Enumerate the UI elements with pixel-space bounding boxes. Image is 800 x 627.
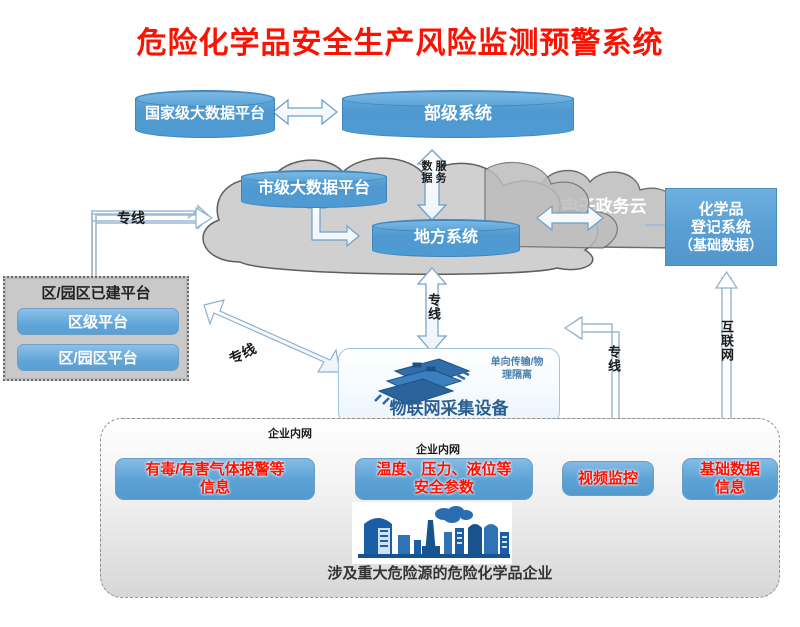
toxic-gas-line-2: 信息 — [200, 479, 230, 497]
registry-line-3: （基础数据） — [679, 237, 763, 254]
registry-line-1: 化学品 — [698, 201, 743, 219]
intranet-label-left: 企业内网 — [268, 425, 312, 441]
registry-line-2: 登记系统 — [691, 219, 751, 237]
safety-param-line-2: 安全参数 — [414, 479, 474, 497]
base-data-info-box[interactable]: 基础数据 信息 — [682, 458, 778, 500]
iot-isolation-note: 单向传输/物 理隔离 — [481, 357, 553, 382]
city-big-data-platform-label: 市级大数据平台 — [242, 180, 386, 198]
district-existing-platforms-panel: 区/园区已建平台 区级平台 区/园区平台 — [3, 276, 189, 381]
diagram-canvas: 危险化学品安全生产风险监测预警系统 市电子政务云 — [0, 0, 800, 627]
link-label-dedicated-center: 专线 — [427, 293, 440, 321]
toxic-gas-line-1: 有毒/有害气体报警等 — [145, 461, 284, 479]
iot-device-label: 物联网采集设备 — [339, 394, 559, 419]
base-data-line-2: 信息 — [715, 479, 745, 497]
video-monitoring-label: 视频监控 — [578, 470, 638, 488]
link-label-dedicated-diagonal: 专线 — [225, 338, 259, 369]
local-system-label: 地方系统 — [373, 229, 519, 247]
iot-collection-device-box[interactable]: 单向传输/物 理隔离 物联网采集设备 — [338, 348, 560, 424]
intranet-label-right: 企业内网 — [416, 441, 460, 457]
district-panel-title: 区/园区已建平台 — [5, 282, 187, 303]
link-label-dedicated-left: 专线 — [117, 208, 145, 228]
district-platform-label: 区级平台 — [68, 311, 128, 332]
iot-note-line-2: 理隔离 — [481, 370, 553, 383]
chemical-registry-system[interactable]: 化学品 登记系统 （基础数据） — [665, 188, 777, 266]
base-data-line-1: 基础数据 — [700, 461, 760, 479]
safety-param-line-1: 温度、压力、液位等 — [376, 461, 511, 479]
toxic-gas-alarm-box[interactable]: 有毒/有害气体报警等 信息 — [115, 458, 315, 500]
national-platform-label: 国家级大数据平台 — [136, 105, 274, 122]
local-system[interactable]: 地方系统 — [372, 219, 520, 257]
district-park-platform-label: 区/园区平台 — [58, 347, 137, 368]
video-monitoring-box[interactable]: 视频监控 — [562, 461, 654, 496]
city-big-data-platform[interactable]: 市级大数据平台 — [241, 170, 387, 208]
exchange-label-service: 服务 — [434, 160, 445, 184]
ministry-system[interactable]: 部级系统 — [342, 90, 574, 138]
exchange-label-data: 数据 — [420, 160, 431, 184]
national-big-data-platform[interactable]: 国家级大数据平台 — [135, 90, 275, 138]
enterprise-panel-label: 涉及重大危险源的危险化学品企业 — [101, 562, 779, 583]
page-title: 危险化学品安全生产风险监测预警系统 — [0, 18, 800, 62]
district-park-platform-button[interactable]: 区/园区平台 — [17, 344, 179, 371]
iot-note-line-1: 单向传输/物 — [481, 357, 553, 370]
safety-parameters-box[interactable]: 温度、压力、液位等 安全参数 — [355, 458, 533, 500]
ministry-system-label: 部级系统 — [343, 104, 573, 124]
link-label-internet: 互联网 — [720, 320, 733, 362]
factory-illustration — [352, 502, 512, 564]
district-platform-button[interactable]: 区级平台 — [17, 308, 179, 335]
link-label-dedicated-right: 专线 — [607, 345, 620, 373]
